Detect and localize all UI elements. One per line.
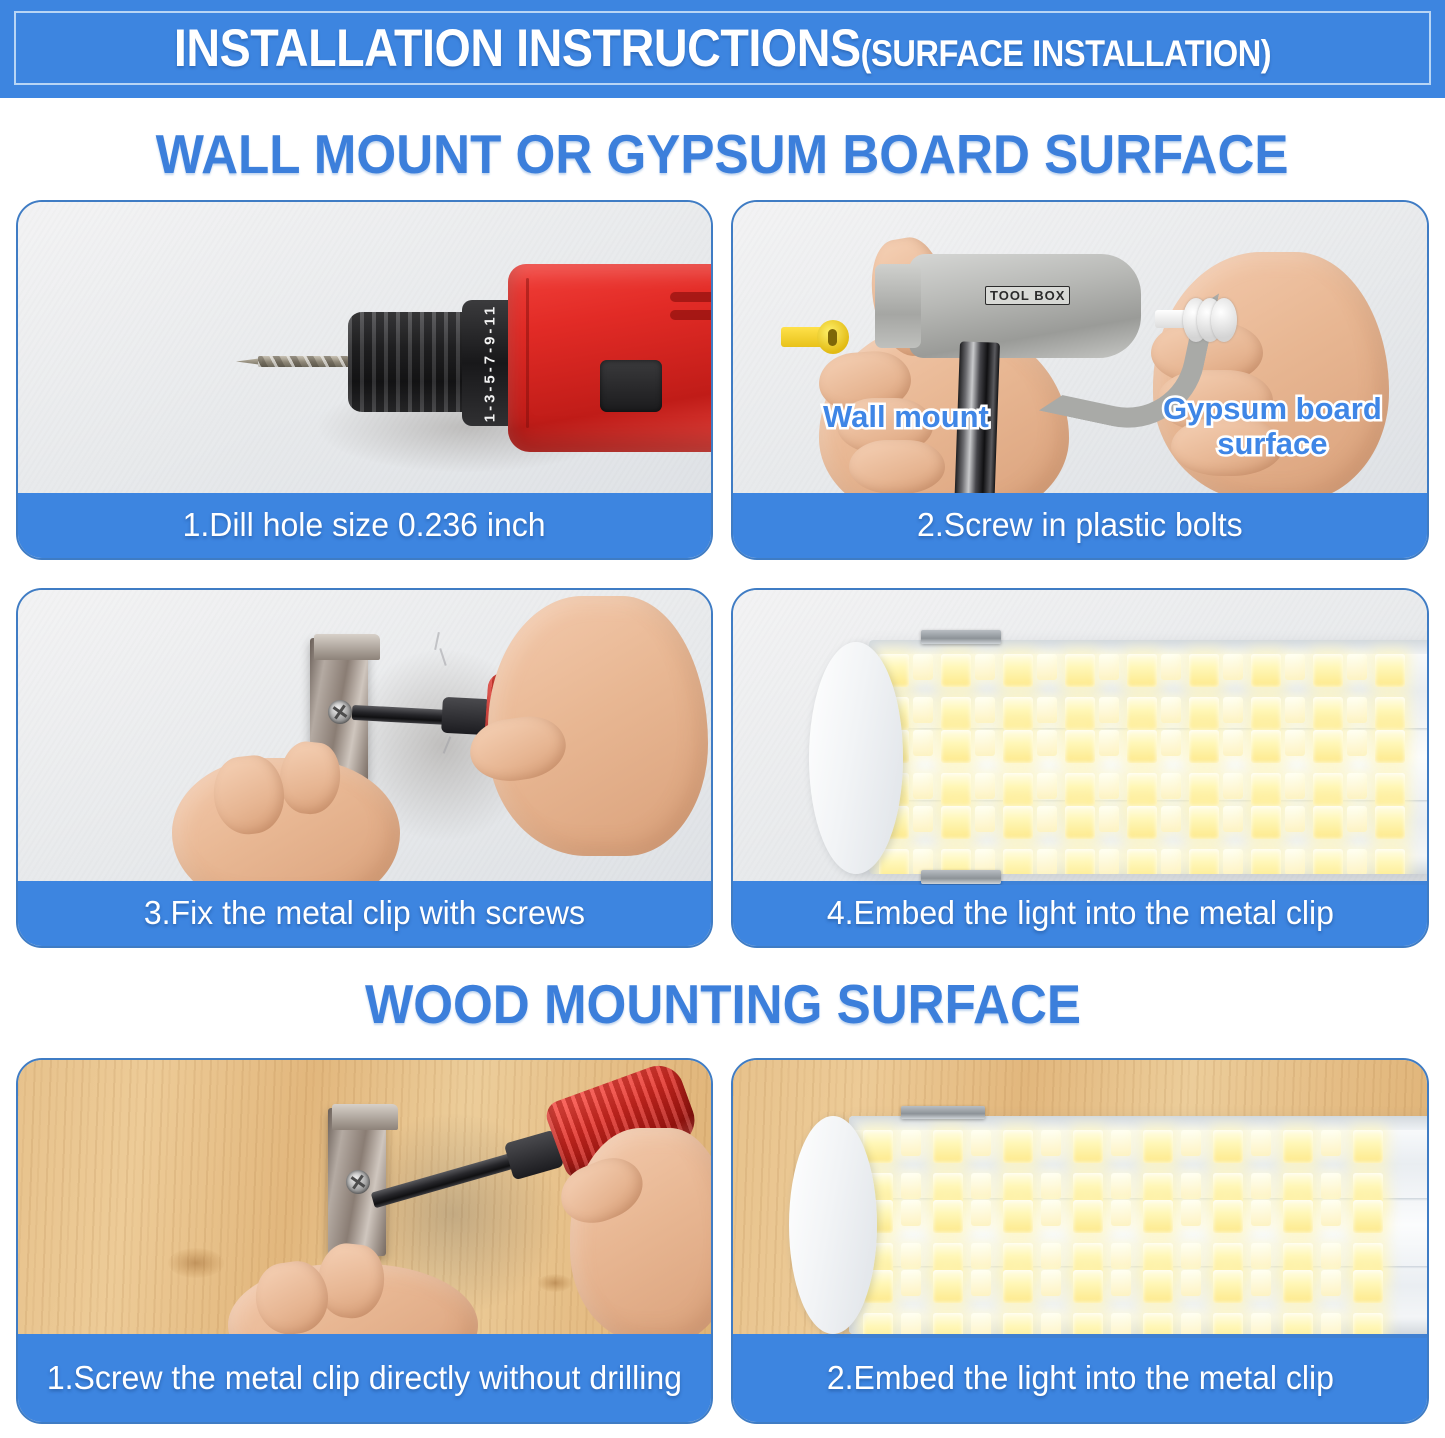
led-chip xyxy=(1223,773,1243,799)
led-chip-pair xyxy=(1143,1270,1173,1334)
led-chip xyxy=(1073,1130,1103,1163)
led-chip xyxy=(1347,773,1367,799)
led-chip-pair-small xyxy=(1285,654,1315,730)
led-chip xyxy=(1283,1200,1313,1233)
led-chip xyxy=(1003,1270,1033,1303)
led-chip xyxy=(1037,773,1057,799)
led-chip xyxy=(1003,773,1033,806)
led-chip-pair xyxy=(1065,654,1095,730)
led-chip-pair-small xyxy=(1111,1270,1141,1334)
led-chip xyxy=(971,1200,991,1226)
led-chip-pair-small xyxy=(1161,654,1191,730)
led-chip xyxy=(1037,730,1057,756)
led-chip xyxy=(1313,654,1343,687)
led-clip-tab-top xyxy=(921,630,1001,644)
led-chip-pair xyxy=(1251,730,1281,806)
led-chip xyxy=(901,1173,921,1199)
led-chip-pair-small xyxy=(1321,1200,1351,1276)
led-chip-pair xyxy=(933,1130,963,1206)
led-chip xyxy=(1189,697,1219,730)
step-card-5: 1.Screw the metal clip directly without … xyxy=(16,1058,713,1424)
led-chip-pair-small xyxy=(1161,806,1191,874)
step-card-6: 2.Embed the light into the metal clip xyxy=(731,1058,1429,1424)
led-chip-pair xyxy=(1375,730,1405,806)
led-chip xyxy=(1375,654,1405,687)
led-chip xyxy=(1285,773,1305,799)
led-chip-pair xyxy=(1189,730,1219,806)
led-chip xyxy=(1353,1270,1383,1303)
led-chip-pair-small xyxy=(1181,1130,1211,1206)
led-chip xyxy=(1213,1130,1243,1163)
led-chip xyxy=(1065,849,1095,874)
led-chip xyxy=(901,1270,921,1296)
led-chip-pair-small xyxy=(975,654,1005,730)
led-chip xyxy=(1251,697,1281,730)
led-chip xyxy=(1065,806,1095,839)
led-row-3 xyxy=(849,1270,1427,1334)
led-chip xyxy=(1181,1130,1201,1156)
step-card-4: 4.Embed the light into the metal clip xyxy=(731,588,1429,948)
led-chip xyxy=(901,1313,921,1334)
led-chip xyxy=(1347,654,1367,680)
wood-surface xyxy=(18,1060,711,1338)
led-chip-pair-small xyxy=(1223,806,1253,874)
led-chip-pair-small xyxy=(971,1130,1001,1206)
led-chip-pair xyxy=(941,730,971,806)
led-chip xyxy=(1189,806,1219,839)
led-chip xyxy=(1073,1200,1103,1233)
led-chip xyxy=(975,730,995,756)
led-chip xyxy=(971,1130,991,1156)
led-chip-pair xyxy=(933,1200,963,1276)
led-chip xyxy=(1003,849,1033,874)
led-chip-pair-small xyxy=(1099,730,1129,806)
metal-clip-lip xyxy=(332,1104,398,1130)
led-chip xyxy=(1143,1270,1173,1303)
led-chip xyxy=(913,697,933,723)
led-chip-pair xyxy=(1313,806,1343,874)
led-chip-pair xyxy=(1127,654,1157,730)
led-chip xyxy=(1283,1270,1313,1303)
step-4-photo xyxy=(733,590,1427,885)
led-chip-pair-small xyxy=(975,806,1005,874)
led-chip xyxy=(1251,1200,1271,1226)
led-chip xyxy=(1127,697,1157,730)
led-clip-tab-bottom xyxy=(921,870,1001,884)
step-2-photo: TOOL BOX Wall mount Gypsum boardsurface xyxy=(733,202,1427,497)
led-chip xyxy=(1099,849,1119,874)
section-heading-wall-label: WALL MOUNT OR GYPSUM BOARD SURFACE xyxy=(156,122,1289,186)
drill-direction-switch xyxy=(600,360,662,412)
step-4-caption-text: 4.Embed the light into the metal clip xyxy=(826,894,1333,933)
led-chip-pair xyxy=(1003,806,1033,874)
led-chip xyxy=(1375,697,1405,730)
led-chip-pair-small xyxy=(1251,1130,1281,1206)
led-chip xyxy=(1283,1130,1313,1163)
led-chip xyxy=(1143,1313,1173,1334)
left-hand-ring-finger xyxy=(849,440,945,494)
hammer-brand-label: TOOL BOX xyxy=(985,286,1070,305)
led-chip xyxy=(1285,849,1305,874)
step-card-2: TOOL BOX Wall mount Gypsum boardsurface xyxy=(731,200,1429,560)
led-chip-pair-small xyxy=(1347,806,1377,874)
led-chip xyxy=(1347,730,1367,756)
step-card-1: 1-3-5-7-9-11 1.Dill hole size 0.236 inch xyxy=(16,200,713,560)
wall-surface: 1-3-5-7-9-11 xyxy=(18,202,711,497)
led-chip xyxy=(1111,1173,1131,1199)
led-chip xyxy=(1111,1270,1131,1296)
led-chip xyxy=(1127,654,1157,687)
led-chip xyxy=(1251,1243,1271,1269)
wall-surface: TOOL BOX Wall mount Gypsum boardsurface xyxy=(733,202,1427,497)
led-chip-pair xyxy=(1073,1130,1103,1206)
led-chip-pair-small xyxy=(1223,730,1253,806)
led-chip xyxy=(1223,654,1243,680)
step-6-caption: 2.Embed the light into the metal clip xyxy=(733,1334,1427,1422)
led-chip xyxy=(1073,1270,1103,1303)
section-heading-wall: WALL MOUNT OR GYPSUM BOARD SURFACE xyxy=(0,122,1445,186)
led-chip xyxy=(1143,1130,1173,1163)
led-chip xyxy=(1003,1130,1033,1163)
led-chip xyxy=(1161,730,1181,756)
led-chip xyxy=(1111,1130,1131,1156)
led-chip xyxy=(1321,1200,1341,1226)
step-1-caption: 1.Dill hole size 0.236 inch xyxy=(18,493,711,558)
led-chip xyxy=(1099,654,1119,680)
led-chip-pair-small xyxy=(1181,1200,1211,1276)
led-chip xyxy=(1251,1313,1271,1334)
led-chip-pair-small xyxy=(1321,1130,1351,1206)
step-3-photo xyxy=(18,590,711,885)
led-chip xyxy=(1041,1243,1061,1269)
led-end-cap xyxy=(789,1116,877,1334)
led-chip xyxy=(1041,1270,1061,1296)
led-chip xyxy=(1037,697,1057,723)
overlay-label-gypsum-board-surface: Gypsum boardsurface xyxy=(1163,392,1382,461)
led-chip xyxy=(933,1200,963,1233)
led-chip xyxy=(1313,773,1343,806)
led-chip xyxy=(1003,654,1033,687)
page-title-subtitle: (SURFACE INSTALLATION) xyxy=(861,33,1272,75)
led-chip-pair-small xyxy=(1111,1200,1141,1276)
step-5-caption: 1.Screw the metal clip directly without … xyxy=(18,1334,711,1422)
led-chip-pair xyxy=(1127,806,1157,874)
led-chip xyxy=(1111,1313,1131,1334)
led-chip-pair xyxy=(1143,1200,1173,1276)
led-chip xyxy=(1189,773,1219,806)
led-chip-pair xyxy=(1313,654,1343,730)
led-chip-pair-small xyxy=(1099,806,1129,874)
led-chip-pair-small xyxy=(901,1270,931,1334)
led-chip-pair xyxy=(1073,1270,1103,1334)
led-chip xyxy=(901,1200,921,1226)
led-chip xyxy=(1111,1200,1131,1226)
led-chip xyxy=(1251,1173,1271,1199)
led-chip xyxy=(913,654,933,680)
led-chip xyxy=(1251,773,1281,806)
led-chip xyxy=(879,849,909,874)
led-chip xyxy=(1003,697,1033,730)
wood-knot-2 xyxy=(538,1274,572,1292)
led-chip-pair-small xyxy=(975,730,1005,806)
led-chip xyxy=(1065,697,1095,730)
led-chip xyxy=(1189,654,1219,687)
led-chip xyxy=(1181,1200,1201,1226)
led-chip xyxy=(1181,1173,1201,1199)
led-chip xyxy=(941,806,971,839)
led-chip-pair-small xyxy=(1285,730,1315,806)
led-chip xyxy=(941,654,971,687)
led-chip xyxy=(1181,1313,1201,1334)
led-chip-pair xyxy=(1143,1130,1173,1206)
led-chip-pair-small xyxy=(971,1200,1001,1276)
led-chip xyxy=(863,1313,893,1334)
led-chip xyxy=(975,654,995,680)
led-chip-pair xyxy=(1003,1130,1033,1206)
led-chip xyxy=(913,730,933,756)
led-chip-pair-small xyxy=(1161,730,1191,806)
led-chip-pair-small xyxy=(1251,1270,1281,1334)
led-chip xyxy=(1321,1130,1341,1156)
led-chip xyxy=(1223,806,1243,832)
yellow-bolt-slot xyxy=(828,329,837,346)
led-chip-pair xyxy=(1213,1270,1243,1334)
led-chip xyxy=(971,1173,991,1199)
led-chip-pair xyxy=(1073,1200,1103,1276)
led-fixture-housing xyxy=(849,1116,1427,1334)
led-chip-pair xyxy=(1003,1270,1033,1334)
drill-collar-numbers: 1-3-5-7-9-11 xyxy=(482,304,499,423)
led-chip-pair xyxy=(1003,654,1033,730)
led-chip xyxy=(1321,1270,1341,1296)
led-chip-pair-small xyxy=(1099,654,1129,730)
wood-knot-1 xyxy=(168,1248,224,1278)
led-chip xyxy=(1347,849,1367,874)
led-chip xyxy=(975,773,995,799)
led-chip xyxy=(1041,1200,1061,1226)
led-chip-pair xyxy=(1353,1270,1383,1334)
led-chip-pair xyxy=(1283,1200,1313,1276)
led-chip-pair-small xyxy=(1037,730,1067,806)
led-chip xyxy=(1003,806,1033,839)
led-chip xyxy=(1251,730,1281,763)
led-chip-pair xyxy=(1251,654,1281,730)
led-chip-pair xyxy=(1189,654,1219,730)
led-chip xyxy=(1285,697,1305,723)
led-chip xyxy=(1213,1270,1243,1303)
led-chip xyxy=(901,1243,921,1269)
overlay-label-wall-mount: Wall mount xyxy=(823,400,989,435)
step-4-caption: 4.Embed the light into the metal clip xyxy=(733,881,1427,946)
led-chip xyxy=(975,697,995,723)
drill-body xyxy=(508,264,711,452)
led-chip xyxy=(1285,730,1305,756)
led-chip-pair-small xyxy=(971,1270,1001,1334)
yellow-plastic-bolt-icon xyxy=(781,320,853,354)
led-chip xyxy=(1127,730,1157,763)
step-1-caption-text: 1.Dill hole size 0.236 inch xyxy=(183,506,546,545)
led-chip xyxy=(1313,849,1343,874)
led-chip xyxy=(933,1130,963,1163)
led-chip xyxy=(913,773,933,799)
led-chip xyxy=(1073,1313,1103,1334)
led-chip xyxy=(1041,1130,1061,1156)
led-row-2 xyxy=(869,730,1427,816)
led-chip xyxy=(1223,849,1243,874)
led-chip xyxy=(941,697,971,730)
led-end-cap xyxy=(809,642,903,874)
led-chip xyxy=(1037,654,1057,680)
led-chip xyxy=(901,1130,921,1156)
led-chip xyxy=(1003,730,1033,763)
led-row-3 xyxy=(869,806,1427,874)
led-chip xyxy=(1223,730,1243,756)
led-chip-pair-small xyxy=(1251,1200,1281,1276)
led-chip xyxy=(1111,1243,1131,1269)
led-chip xyxy=(1003,1200,1033,1233)
installation-instructions-page: INSTALLATION INSTRUCTIONS(SURFACE INSTAL… xyxy=(0,0,1445,1438)
led-chip-pair xyxy=(1003,730,1033,806)
led-chip xyxy=(1041,1173,1061,1199)
led-chip xyxy=(1099,773,1119,799)
led-chip xyxy=(1065,730,1095,763)
led-chip xyxy=(1285,654,1305,680)
led-chip xyxy=(1099,730,1119,756)
header-banner: INSTALLATION INSTRUCTIONS(SURFACE INSTAL… xyxy=(0,0,1445,98)
led-chip xyxy=(1375,849,1405,874)
led-chip xyxy=(975,806,995,832)
led-chip-pair xyxy=(1283,1130,1313,1206)
drill-chuck xyxy=(348,312,476,412)
step-6-caption-text: 2.Embed the light into the metal clip xyxy=(826,1359,1333,1398)
led-chip xyxy=(1353,1313,1383,1334)
led-chip-pair-small xyxy=(1041,1130,1071,1206)
led-chip xyxy=(933,1270,963,1303)
led-chip-pair-small xyxy=(913,654,943,730)
led-chip xyxy=(1313,730,1343,763)
led-chip-pair-small xyxy=(1041,1270,1071,1334)
led-chip-pair xyxy=(1065,806,1095,874)
led-chip xyxy=(1099,697,1119,723)
section-heading-wood-label: WOOD MOUNTING SURFACE xyxy=(364,972,1080,1036)
led-chip xyxy=(913,806,933,832)
led-chip-pair xyxy=(1353,1200,1383,1276)
wall-surface xyxy=(733,590,1427,885)
led-row-1 xyxy=(869,654,1427,740)
led-chip xyxy=(1143,1200,1173,1233)
led-chip xyxy=(1251,654,1281,687)
led-chip-pair xyxy=(1251,806,1281,874)
led-chip xyxy=(1041,1313,1061,1334)
led-chip xyxy=(1099,806,1119,832)
led-chip xyxy=(1127,773,1157,806)
led-chip xyxy=(1283,1313,1313,1334)
led-chip-pair xyxy=(1313,730,1343,806)
led-chip-pair xyxy=(941,806,971,874)
step-3-caption-text: 3.Fix the metal clip with screws xyxy=(144,894,585,933)
led-chip xyxy=(971,1243,991,1269)
led-chip-pair-small xyxy=(1037,654,1067,730)
led-chip-pair-small xyxy=(1347,730,1377,806)
wood-surface xyxy=(733,1060,1427,1338)
led-chip-pair xyxy=(1353,1130,1383,1206)
led-chip xyxy=(941,730,971,763)
led-chip xyxy=(1375,806,1405,839)
header-inner-frame: INSTALLATION INSTRUCTIONS(SURFACE INSTAL… xyxy=(14,11,1431,85)
led-chip-pair-small xyxy=(1347,654,1377,730)
led-chip xyxy=(1189,849,1219,874)
led-chip xyxy=(1213,1313,1243,1334)
led-chip xyxy=(971,1270,991,1296)
led-chip xyxy=(1285,806,1305,832)
led-chip xyxy=(971,1313,991,1334)
led-chip xyxy=(1161,806,1181,832)
led-chip-pair xyxy=(1213,1130,1243,1206)
led-fixture-housing xyxy=(869,640,1427,874)
led-chip xyxy=(1251,849,1281,874)
led-chip xyxy=(1181,1270,1201,1296)
led-chip xyxy=(933,1313,963,1334)
led-chip-pair-small xyxy=(913,806,943,874)
led-chip xyxy=(1321,1243,1341,1269)
led-chip xyxy=(1037,849,1057,874)
metal-clip-lip xyxy=(314,634,380,660)
led-chip-pair xyxy=(1375,806,1405,874)
led-chip-pair-small xyxy=(1285,806,1315,874)
led-chip xyxy=(1347,806,1367,832)
led-chip xyxy=(1037,806,1057,832)
led-chip-pair xyxy=(1065,730,1095,806)
step-6-photo xyxy=(733,1060,1427,1338)
led-chip xyxy=(1251,1130,1271,1156)
wall-crack-1 xyxy=(434,632,440,650)
led-chip xyxy=(1189,730,1219,763)
led-chip xyxy=(1003,1313,1033,1334)
step-5-photo xyxy=(18,1060,711,1338)
led-chip xyxy=(1321,1313,1341,1334)
page-title-main: INSTALLATION INSTRUCTIONS xyxy=(174,18,861,79)
step-card-3: 3.Fix the metal clip with screws xyxy=(16,588,713,948)
page-title: INSTALLATION INSTRUCTIONS(SURFACE INSTAL… xyxy=(174,18,1271,79)
led-chip-pair-small xyxy=(1037,806,1067,874)
led-chip-pair-small xyxy=(1223,654,1253,730)
step-1-photo: 1-3-5-7-9-11 xyxy=(18,202,711,497)
led-chip-pair xyxy=(1283,1270,1313,1334)
led-chip xyxy=(1181,1243,1201,1269)
step-2-caption-text: 2.Screw in plastic bolts xyxy=(917,506,1243,545)
led-chip-pair-small xyxy=(901,1130,931,1206)
metal-clip xyxy=(328,1108,400,1256)
white-bolt-disc-3 xyxy=(1211,298,1237,342)
step-2-caption: 2.Screw in plastic bolts xyxy=(733,493,1427,558)
metal-clip-screw xyxy=(328,700,352,724)
drill-body-seam xyxy=(526,278,529,428)
led-chip xyxy=(1375,730,1405,763)
led-chip-pair xyxy=(941,654,971,730)
led-chip xyxy=(1353,1130,1383,1163)
led-chip xyxy=(1127,849,1157,874)
right-hand xyxy=(570,1128,711,1338)
led-chip xyxy=(1251,806,1281,839)
section-heading-wood: WOOD MOUNTING SURFACE xyxy=(0,972,1445,1036)
led-chip-pair-small xyxy=(901,1200,931,1276)
led-chip-pair xyxy=(1003,1200,1033,1276)
led-chip-pair-small xyxy=(1181,1270,1211,1334)
led-chip-pair-small xyxy=(913,730,943,806)
led-chip xyxy=(1353,1200,1383,1233)
metal-clip-screw xyxy=(346,1170,370,1194)
led-chip xyxy=(1321,1173,1341,1199)
